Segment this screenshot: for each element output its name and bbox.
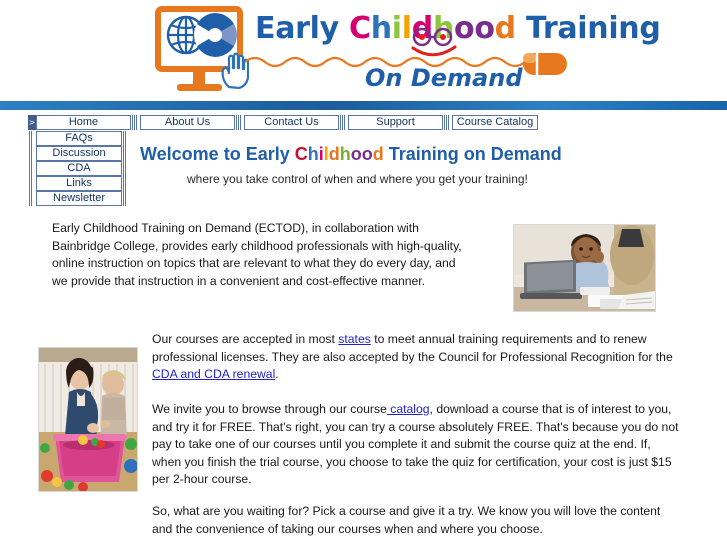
logo-letter-i: i (392, 11, 402, 46)
nav-expand-arrow-icon[interactable]: > (28, 115, 36, 130)
site-header: Early Childhood Training On Demand (0, 0, 727, 100)
primary-navigation[interactable]: > Home About Us Contact Us Support Cours… (28, 115, 538, 130)
sidebar-row: CDA (28, 161, 131, 176)
logo-letter-h1: h (371, 11, 392, 46)
paragraph2-text-1: Our courses are accepted in most (152, 332, 338, 346)
sidebar-right-rule (122, 191, 131, 206)
title-letter-d1: d (329, 144, 340, 164)
nav-item-contact-us[interactable]: Contact Us (244, 115, 339, 130)
cda-renewal-link[interactable]: CDA and CDA renewal (152, 367, 275, 381)
sidebar-right-rule (122, 131, 131, 146)
sidebar-left-rule (28, 131, 36, 146)
sidebar-left-rule (28, 176, 36, 191)
logo-letter-c: C (349, 11, 371, 46)
sidebar-item-faqs[interactable]: FAQs (36, 131, 122, 146)
sidebar-right-rule (122, 146, 131, 161)
sidebar-left-rule (28, 146, 36, 161)
free-trial-paragraph: We invite you to browse through our cour… (152, 401, 682, 489)
page-title: Welcome to Early Childhood Training on D… (140, 144, 562, 165)
woman-at-laptop-photo (513, 224, 656, 312)
title-letter-c: C (295, 144, 308, 164)
title-part-welcome: Welcome to Early (140, 144, 295, 164)
logo-subtitle: On Demand (365, 64, 523, 92)
sidebar-item-discussion[interactable]: Discussion (36, 146, 122, 161)
logo-letter-d2: d (495, 11, 516, 46)
accreditation-paragraph: Our courses are accepted in most states … (152, 331, 680, 384)
call-to-action-paragraph: So, what are you waiting for? Pick a cou… (152, 503, 682, 538)
sidebar-left-rule (28, 191, 36, 206)
nav-item-course-catalog[interactable]: Course Catalog (452, 115, 538, 130)
title-part-training: Training on Demand (384, 144, 562, 164)
nav-separator (443, 115, 452, 130)
logo-word-training: Training (516, 11, 661, 46)
sidebar-row: Newsletter (28, 191, 131, 206)
sidebar-item-cda[interactable]: CDA (36, 161, 122, 176)
header-divider-bar (0, 101, 727, 110)
catalog-link[interactable]: catalog (387, 402, 430, 416)
monitor-base-icon (177, 84, 222, 91)
nav-item-home[interactable]: Home (36, 115, 131, 130)
teacher-and-child-toys-photo (38, 347, 138, 492)
sidebar-row: Discussion (28, 146, 131, 161)
sidebar-left-rule (28, 161, 36, 176)
states-link[interactable]: states (338, 332, 371, 346)
sidebar-item-newsletter[interactable]: Newsletter (36, 191, 122, 206)
nav-item-about-us[interactable]: About Us (140, 115, 235, 130)
nav-separator (131, 115, 140, 130)
sidebar-item-links[interactable]: Links (36, 176, 122, 191)
page-subtitle: where you take control of when and where… (187, 172, 528, 186)
title-letter-d2: d (373, 144, 384, 164)
paragraph3-text-1: We invite you to browse through our cour… (152, 402, 387, 416)
sidebar-right-rule (122, 161, 131, 176)
paragraph2-text-3: . (275, 367, 278, 381)
secondary-navigation[interactable]: FAQs Discussion CDA Links Newsletter (28, 131, 131, 206)
sidebar-row: Links (28, 176, 131, 191)
title-letter-oo: oo (351, 144, 373, 164)
site-logo[interactable]: Early Childhood Training On Demand (155, 4, 575, 98)
nav-separator (339, 115, 348, 130)
title-letter-h1: h (308, 144, 319, 164)
sidebar-right-rule (122, 176, 131, 191)
intro-paragraph: Early Childhood Training on Demand (ECTO… (52, 220, 472, 290)
title-letter-h2: h (340, 144, 351, 164)
sidebar-row: FAQs (28, 131, 131, 146)
computer-mouse-icon (523, 52, 569, 76)
logo-word-early: Early (255, 11, 349, 46)
nav-item-support[interactable]: Support (348, 115, 443, 130)
nav-separator (235, 115, 244, 130)
